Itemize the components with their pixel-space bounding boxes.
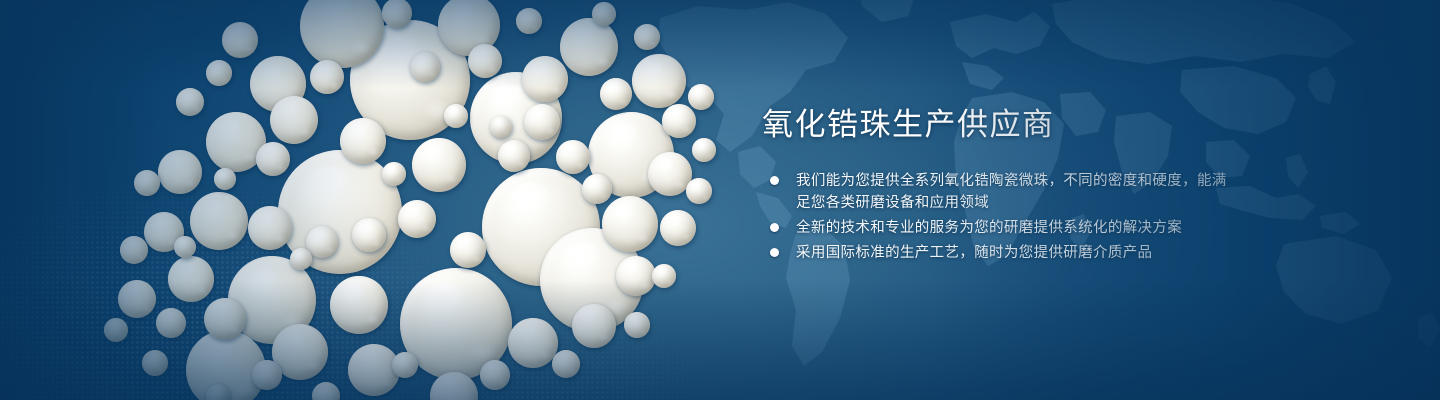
- hero-banner: 氧化锆珠生产供应商 我们能为您提供全系列氧化锆陶瓷微珠，不同的密度和硬度，能满足…: [0, 0, 1440, 400]
- edge-vignette-vertical: [0, 0, 1440, 400]
